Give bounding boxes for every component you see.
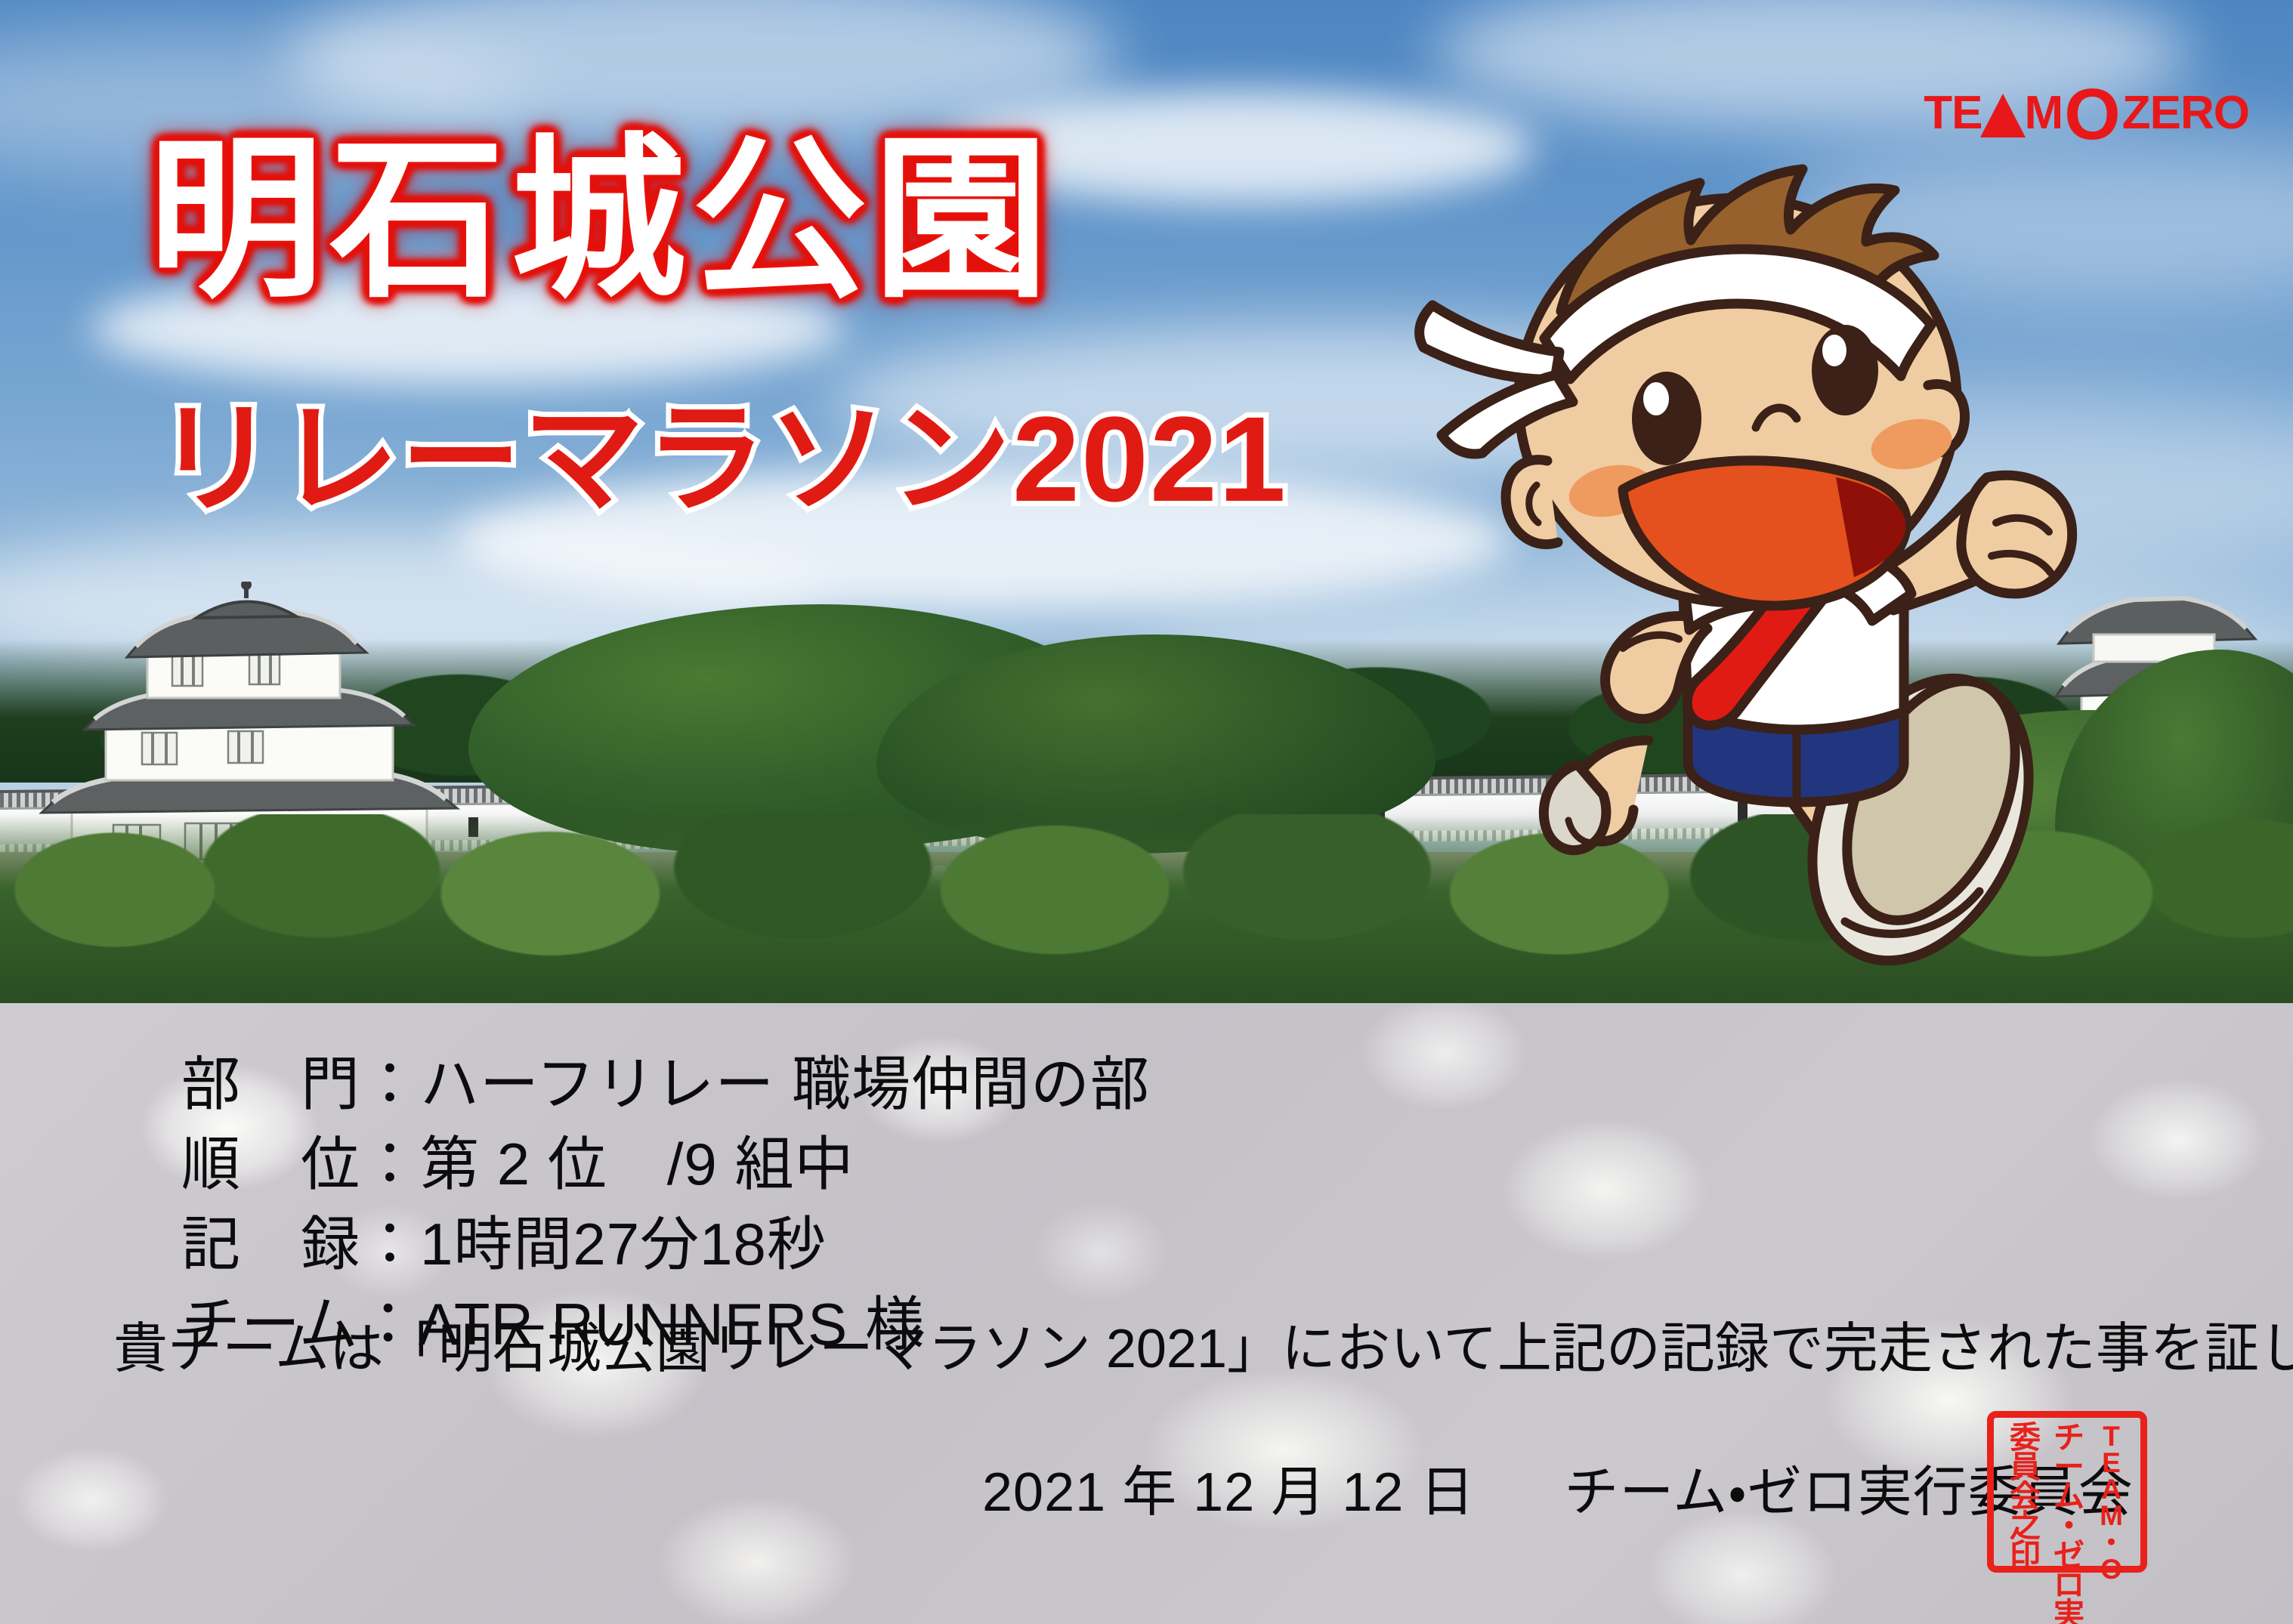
seal-char: T xyxy=(2103,1423,2119,1450)
seal-char: M xyxy=(2100,1502,2122,1529)
field-separator: ： xyxy=(360,1211,420,1277)
field-row-rank: 順 位：第 2 位 /9 組中 xyxy=(181,1124,1150,1204)
page-subtitle: リレーマラソン2021 xyxy=(156,399,1287,520)
logo-text-m: M xyxy=(2024,90,2063,137)
certificate-page: 明石城公園 リレーマラソン2021 TE M O ZERO 部 門：ハーフリレー… xyxy=(0,0,2293,1624)
logo-triangle-a-icon xyxy=(1980,94,2026,137)
running-boy-mascot xyxy=(1383,136,2123,982)
seal-char: 委 xyxy=(2010,1423,2041,1453)
logo-text-zero: ZERO xyxy=(2122,90,2249,137)
seal-column-team-o: T E A M ・ O xyxy=(2097,1423,2125,1561)
field-row-category: 部 門：ハーフリレー 職場仲間の部 xyxy=(181,1044,1150,1124)
issue-date: 2021 年 12 月 12 日 xyxy=(982,1462,1475,1523)
field-label-record: 記 録 xyxy=(181,1211,360,1277)
field-label-rank: 順 位 xyxy=(181,1131,360,1197)
page-title: 明石城公園 xyxy=(148,133,1055,308)
team-zero-logo: TE M O ZERO xyxy=(1924,82,2249,145)
seal-char: チ xyxy=(2054,1423,2084,1453)
seal-char: ロ xyxy=(2054,1570,2084,1600)
seal-column-iinkai-no-in: 委 員 会 之 印 xyxy=(2010,1423,2041,1561)
seal-char: 実 xyxy=(2054,1600,2084,1624)
seal-char: ・ xyxy=(2097,1530,2125,1556)
field-label-category: 部 門 xyxy=(181,1051,360,1117)
field-value-rank: 第 2 位 /9 組中 xyxy=(420,1131,854,1197)
field-value-record: 1時間27分18秒 xyxy=(420,1211,827,1277)
certificate-footer: 2021 年 12 月 12 日チーム・ゼロ実行委員会 xyxy=(982,1465,2134,1520)
seal-column-team-zero-jikko: チ ー ム ・ ゼ ロ 実 行 xyxy=(2054,1423,2084,1561)
certification-statement: 貴チームは「明石城公園リレーマラソン 2021」において上記の記録で完走された事… xyxy=(113,1322,2293,1376)
logo-text-te: TE xyxy=(1924,90,1982,137)
seal-char: 会 xyxy=(2010,1482,2041,1511)
seal-char: A xyxy=(2101,1476,2121,1502)
header-photo: 明石城公園 リレーマラソン2021 TE M O ZERO xyxy=(0,0,2293,1003)
field-row-record: 記 録：1時間27分18秒 xyxy=(181,1204,1150,1284)
seal-char: 印 xyxy=(2010,1541,2041,1570)
seal-char: ム xyxy=(2054,1482,2084,1511)
seal-char: O xyxy=(2100,1556,2121,1582)
seal-char: 之 xyxy=(2010,1511,2041,1541)
field-separator: ： xyxy=(360,1051,420,1117)
logo-big-o-icon: O xyxy=(2064,79,2121,151)
field-value-category: ハーフリレー 職場仲間の部 xyxy=(420,1051,1150,1117)
official-seal-stamp: T E A M ・ O チ ー ム ・ ゼ ロ 実 行 委 員 会 之 印 xyxy=(1987,1411,2147,1573)
seal-char: ゼ xyxy=(2054,1541,2084,1570)
seal-char: ・ xyxy=(2054,1511,2084,1541)
seal-char: E xyxy=(2102,1450,2120,1476)
field-separator: ： xyxy=(360,1131,420,1197)
result-fields: 部 門：ハーフリレー 職場仲間の部 順 位：第 2 位 /9 組中 記 録：1時… xyxy=(181,1044,1150,1364)
seal-char: ー xyxy=(2054,1453,2084,1482)
seal-char: 員 xyxy=(2010,1453,2041,1482)
